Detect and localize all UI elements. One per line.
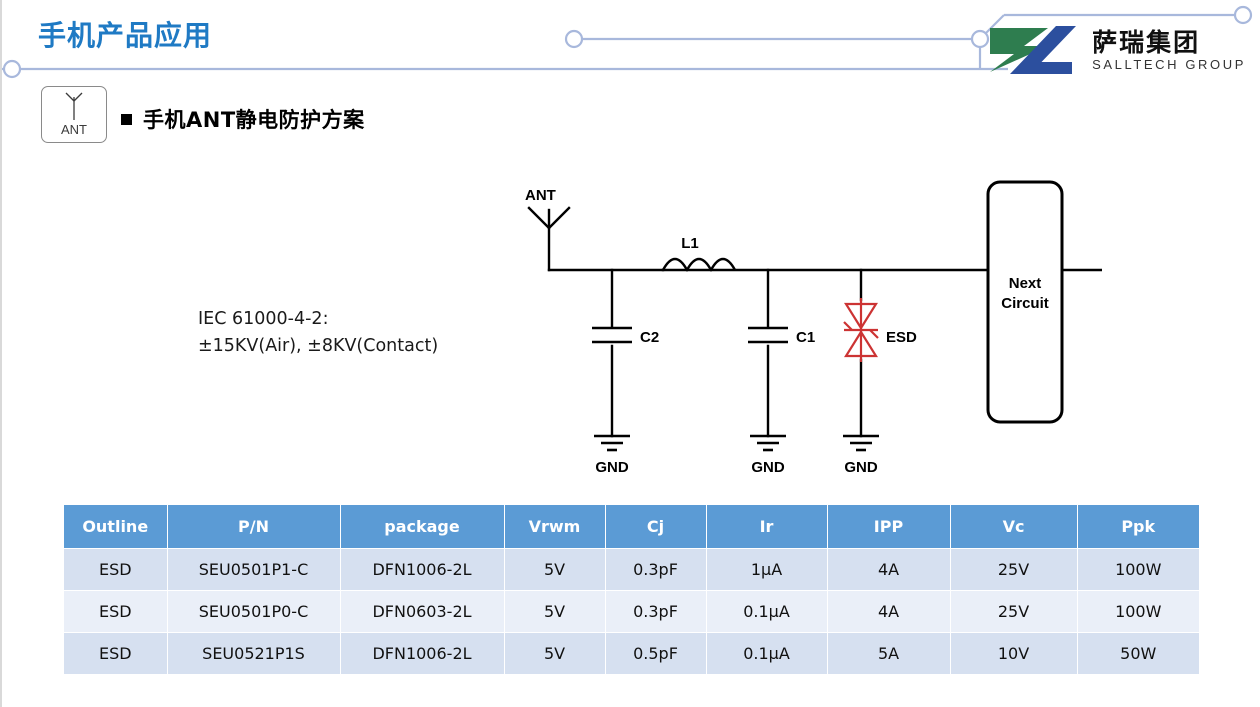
table-cell: 0.3pF — [605, 549, 706, 591]
inductor-label: L1 — [681, 235, 699, 252]
capacitor-c2-label: C2 — [640, 329, 659, 346]
table-row: ESDSEU0501P0-CDFN0603-2L5V0.3pF0.1µA4A25… — [64, 591, 1199, 633]
table-header-row: OutlineP/NpackageVrwmCjIrIPPVcPpk — [64, 505, 1199, 549]
ground-label-esd: GND — [844, 459, 878, 476]
ground-symbol-esd — [843, 436, 879, 450]
brand-name-cn: 萨瑞集团 — [1092, 30, 1246, 55]
antenna-arm-left — [529, 208, 549, 228]
table-column-header: Ppk — [1077, 505, 1199, 549]
antenna-label: ANT — [525, 187, 556, 204]
next-circuit-label-line1: Next — [1009, 275, 1042, 292]
table-column-header: IPP — [827, 505, 950, 549]
table-cell: 50W — [1077, 633, 1199, 675]
deco-node-right — [1235, 7, 1251, 23]
table-cell: ESD — [64, 549, 167, 591]
deco-node-mid — [566, 31, 582, 47]
inductor-l1-symbol — [663, 259, 735, 270]
table-cell: 4A — [827, 591, 950, 633]
page-title: 手机产品应用 — [38, 14, 212, 54]
table-column-header: Vc — [950, 505, 1077, 549]
circuit-schematic: ANT L1 C2 C1 ESD GND GND GND Next Circui… — [492, 170, 1102, 490]
table-cell: 5V — [504, 591, 605, 633]
table-column-header: package — [340, 505, 504, 549]
table-row: ESDSEU0501P1-CDFN1006-2L5V0.3pF1µA4A25V1… — [64, 549, 1199, 591]
table-body: ESDSEU0501P1-CDFN1006-2L5V0.3pF1µA4A25V1… — [64, 549, 1199, 675]
table-cell: 0.1µA — [706, 591, 827, 633]
table-cell: ESD — [64, 633, 167, 675]
table-cell: 1µA — [706, 549, 827, 591]
ground-label-c1: GND — [751, 459, 785, 476]
table-cell: SEU0501P1-C — [167, 549, 340, 591]
table-cell: SEU0521P1S — [167, 633, 340, 675]
table-cell: ESD — [64, 591, 167, 633]
brand-logo: 萨瑞集团 SALLTECH GROUP — [984, 24, 1246, 76]
ground-label-c2: GND — [595, 459, 629, 476]
table-cell: SEU0501P0-C — [167, 591, 340, 633]
table-cell: 5A — [827, 633, 950, 675]
deco-node-left — [4, 61, 20, 77]
table-column-header: Outline — [64, 505, 167, 549]
table-column-header: P/N — [167, 505, 340, 549]
brand-name-en: SALLTECH GROUP — [1092, 58, 1246, 71]
table-cell: 0.5pF — [605, 633, 706, 675]
ant-chip-label: ANT — [61, 122, 87, 137]
table-column-header: Ir — [706, 505, 827, 549]
esd-label: ESD — [886, 329, 917, 346]
esd-spec-table: OutlineP/NpackageVrwmCjIrIPPVcPpk ESDSEU… — [64, 505, 1199, 675]
capacitor-c2-symbol — [592, 328, 632, 342]
table-cell: 10V — [950, 633, 1077, 675]
table-cell: 5V — [504, 549, 605, 591]
table-cell: 25V — [950, 549, 1077, 591]
iec-note-line2: ±15KV(Air), ±8KV(Contact) — [198, 333, 438, 360]
table-column-header: Vrwm — [504, 505, 605, 549]
salltech-logo-icon — [984, 24, 1082, 76]
esd-tvs-diode-symbol — [844, 298, 878, 362]
slide-canvas: 手机产品应用 萨瑞集团 SALLTECH GROUP ANT 手机AN — [0, 0, 1260, 707]
section-heading: 手机ANT静电防护方案 — [121, 104, 365, 134]
square-bullet-icon — [121, 114, 132, 125]
table-cell: 5V — [504, 633, 605, 675]
table-cell: DFN1006-2L — [340, 633, 504, 675]
antenna-icon — [61, 91, 87, 121]
table-cell: 100W — [1077, 549, 1199, 591]
table-column-header: Cj — [605, 505, 706, 549]
table-cell: 25V — [950, 591, 1077, 633]
table-cell: DFN1006-2L — [340, 549, 504, 591]
iec-note-line1: IEC 61000-4-2: — [198, 306, 438, 333]
capacitor-c1-label: C1 — [796, 329, 815, 346]
ground-symbol-c1 — [750, 436, 786, 450]
ant-chip-badge: ANT — [41, 86, 107, 143]
antenna-arm-right — [549, 208, 569, 228]
iec-standard-note: IEC 61000-4-2: ±15KV(Air), ±8KV(Contact) — [198, 306, 438, 360]
ground-symbol-c2 — [594, 436, 630, 450]
table-cell: 0.3pF — [605, 591, 706, 633]
table-row: ESDSEU0521P1SDFN1006-2L5V0.5pF0.1µA5A10V… — [64, 633, 1199, 675]
table-cell: DFN0603-2L — [340, 591, 504, 633]
section-title: 手机ANT静电防护方案 — [143, 104, 365, 134]
next-circuit-label-line2: Circuit — [1001, 295, 1049, 312]
table-cell: 4A — [827, 549, 950, 591]
table-cell: 0.1µA — [706, 633, 827, 675]
capacitor-c1-symbol — [748, 328, 788, 342]
table-cell: 100W — [1077, 591, 1199, 633]
